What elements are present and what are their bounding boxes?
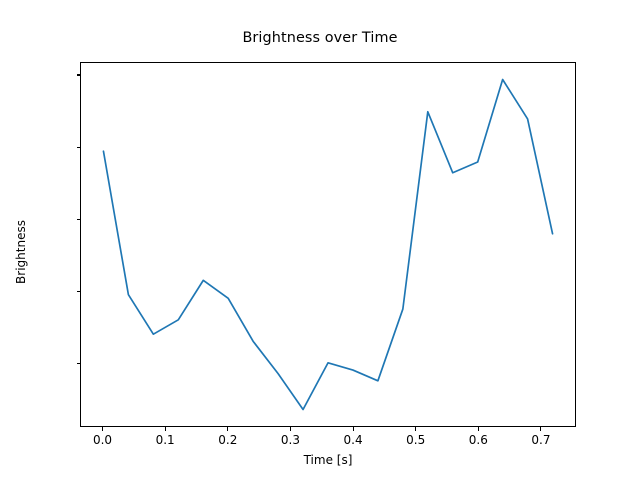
brightness-line: [103, 79, 552, 409]
x-tick-label: 0.6: [469, 433, 488, 447]
x-tick-mark: [353, 427, 354, 431]
matplotlib-figure: Brightness over Time 6080100120140 0.00.…: [0, 0, 640, 480]
x-tick-label: 0.1: [156, 433, 175, 447]
y-tick-mark: [77, 291, 81, 292]
x-tick-label: 0.2: [218, 433, 237, 447]
x-tick-mark: [478, 427, 479, 431]
x-tick-label: 0.0: [93, 433, 112, 447]
y-tick-mark: [77, 219, 81, 220]
x-tick-mark: [165, 427, 166, 431]
x-axis-label: Time [s]: [80, 453, 576, 467]
plot-area: [80, 62, 576, 427]
x-tick-mark: [415, 427, 416, 431]
x-tick-mark: [540, 427, 541, 431]
x-tick-mark: [102, 427, 103, 431]
x-tick-label: 0.7: [531, 433, 550, 447]
chart-title: Brightness over Time: [0, 30, 640, 46]
y-axis-label: Brightness: [14, 152, 28, 352]
y-tick-mark: [77, 74, 81, 75]
data-line-series: [81, 63, 575, 426]
y-tick-mark: [77, 363, 81, 364]
y-tick-mark: [77, 147, 81, 148]
x-tick-mark: [290, 427, 291, 431]
x-tick-mark: [227, 427, 228, 431]
x-tick-label: 0.3: [281, 433, 300, 447]
x-tick-label: 0.5: [406, 433, 425, 447]
x-tick-label: 0.4: [344, 433, 363, 447]
